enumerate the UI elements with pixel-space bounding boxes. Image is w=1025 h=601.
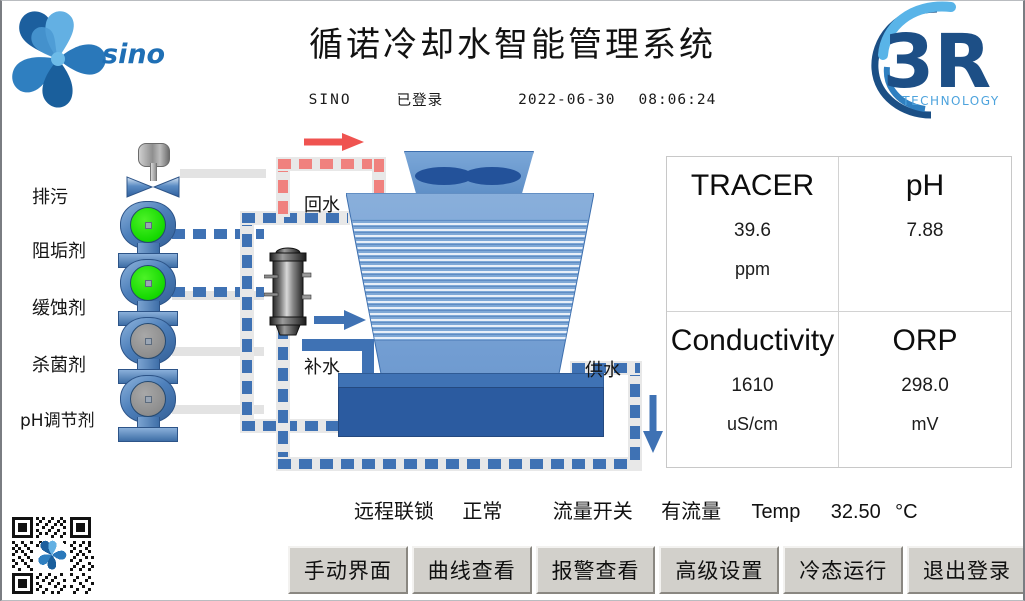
label-blowdown: 排污 — [32, 183, 68, 209]
measurement-cell-orp: ORP 298.0 mV — [839, 312, 1011, 467]
measurement-name: TRACER — [691, 169, 814, 202]
measurement-unit: mV — [912, 414, 939, 435]
loop-flow-right — [630, 363, 640, 467]
3r-logo-text: 3R — [883, 19, 991, 105]
measurement-unit: ppm — [735, 259, 770, 280]
pipe-blowdown-out — [180, 169, 266, 178]
label-ph-adjuster: pH调节剂 — [20, 406, 95, 431]
header: sino 循诺冷却水智能管理系统 SINO 已登录 2022-06-30 08:… — [2, 1, 1023, 123]
qr-code[interactable] — [8, 513, 96, 599]
remote-interlock-label: 远程联锁 — [354, 495, 434, 524]
remote-interlock-value: 正常 — [462, 495, 502, 524]
measurement-name: Conductivity — [671, 324, 834, 357]
pump-corrosion-inhibitor[interactable] — [118, 259, 176, 325]
return-flow-arrow-icon — [302, 131, 366, 153]
cooling-tower-fan-icon — [414, 165, 522, 187]
measurement-value: 7.88 — [907, 220, 944, 242]
label-biocide: 杀菌剂 — [32, 351, 86, 377]
3r-logo-subtext: TECHNOLOGY — [901, 94, 999, 108]
measurement-value: 39.6 — [734, 220, 771, 242]
supply-flow-arrow-icon — [642, 393, 664, 455]
user-name: SINO — [309, 92, 352, 108]
label-return-water: 回水 — [304, 191, 340, 217]
system-date: 2022-06-30 — [518, 92, 615, 108]
flow-switch-label: 流量开关 — [553, 495, 633, 524]
return-flow-right — [374, 159, 384, 195]
pump-base — [118, 427, 178, 442]
valve-body-icon — [126, 175, 180, 199]
measurement-value: 1610 — [731, 375, 773, 397]
measurement-cell-ph: pH 7.88 — [839, 157, 1011, 312]
blowdown-valve[interactable] — [120, 143, 186, 201]
loop-flow-left — [242, 213, 252, 431]
label-scale-inhibitor: 阻垢剂 — [32, 237, 86, 263]
button-bar: 手动界面 曲线查看 报警查看 高级设置 冷态运行 退出登录 — [288, 546, 1025, 598]
return-flow-top — [278, 159, 384, 169]
measurement-unit: uS/cm — [727, 414, 778, 435]
measurement-panel: TRACER 39.6 ppm pH 7.88 Conductivity 161… — [666, 156, 1012, 468]
loop-flow-bottom — [278, 459, 640, 469]
pump-center-dot — [145, 222, 152, 229]
status-line: 远程联锁 正常 流量开关 有流量 Temp 32.50 °C — [354, 495, 1025, 525]
temperature-value: 32.50 — [831, 501, 881, 524]
3r-technology-logo: 3R TECHNOLOGY — [859, 1, 1019, 121]
pump-center-dot — [145, 338, 152, 345]
pump-center-dot — [145, 396, 152, 403]
system-time: 08:06:24 — [638, 92, 716, 108]
pump-ph-adjuster[interactable] — [118, 375, 176, 441]
measurement-cell-tracer: TRACER 39.6 ppm — [667, 157, 839, 312]
hmi-screen: sino 循诺冷却水智能管理系统 SINO 已登录 2022-06-30 08:… — [0, 0, 1025, 601]
manual-interface-button[interactable]: 手动界面 — [288, 546, 408, 594]
measurement-value: 298.0 — [901, 375, 949, 397]
advanced-settings-button[interactable]: 高级设置 — [659, 546, 779, 594]
label-corrosion-inhibitor: 缓蚀剂 — [32, 294, 86, 320]
label-supply-water: 供水 — [585, 356, 621, 382]
login-state: 已登录 — [397, 89, 444, 110]
label-makeup-water: 补水 — [304, 353, 340, 379]
pump-center-dot — [145, 280, 152, 287]
filter-vessel[interactable] — [264, 245, 312, 335]
cooling-tower-basin — [338, 387, 604, 437]
measurement-name: ORP — [892, 324, 957, 357]
trend-view-button[interactable]: 曲线查看 — [412, 546, 532, 594]
cooling-tower-body — [346, 193, 594, 379]
temperature-label: Temp — [751, 501, 800, 524]
process-flow-diagram: 排污 阻垢剂 缓蚀剂 杀菌剂 pH调节剂 — [2, 123, 662, 483]
logout-button[interactable]: 退出登录 — [907, 546, 1025, 594]
alarm-view-button[interactable]: 报警查看 — [536, 546, 656, 594]
pump-biocide[interactable] — [118, 317, 176, 383]
flow-switch-value: 有流量 — [661, 495, 721, 524]
measurement-cell-conductivity: Conductivity 1610 uS/cm — [667, 312, 839, 467]
pump-scale-inhibitor[interactable] — [118, 201, 176, 267]
temperature-unit: °C — [895, 501, 917, 524]
cold-run-button[interactable]: 冷态运行 — [783, 546, 903, 594]
measurement-name: pH — [906, 169, 944, 202]
